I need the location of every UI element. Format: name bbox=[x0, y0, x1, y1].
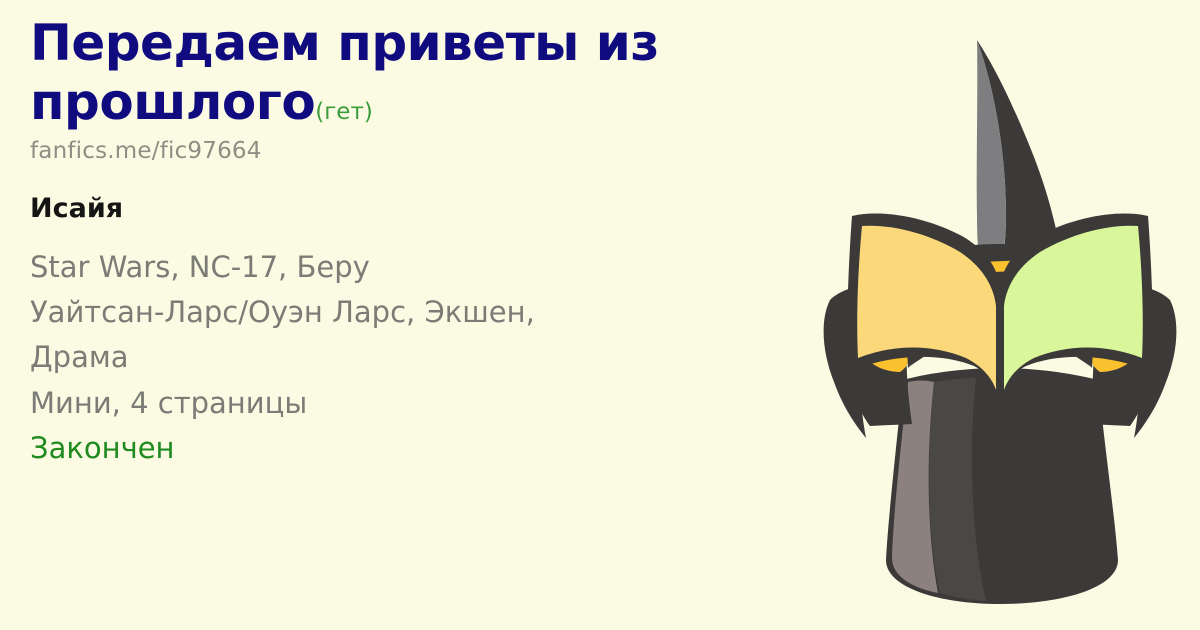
page-title: Передаем приветы из прошлого(гет) bbox=[30, 14, 800, 132]
fic-metadata: Star Wars, NC-17, Беру Уайтсан-Ларс/Оуэн… bbox=[30, 245, 800, 471]
status-badge: Закончен bbox=[30, 426, 800, 471]
wizard-illustration-svg bbox=[800, 0, 1200, 630]
title-category: (гет) bbox=[315, 99, 373, 125]
meta-line-fandom: Star Wars, NC-17, Беру bbox=[30, 245, 800, 290]
wizard-reading-book-illustration bbox=[800, 0, 1200, 630]
text-column: Передаем приветы из прошлого(гет) fanfic… bbox=[30, 14, 800, 471]
meta-line-genre: Драма bbox=[30, 335, 800, 380]
robe-group bbox=[886, 368, 1118, 604]
meta-line-pairing: Уайтсан-Ларс/Оуэн Ларс, Экшен, bbox=[30, 290, 800, 335]
book-spine bbox=[998, 290, 1002, 398]
meta-line-size: Мини, 4 страницы bbox=[30, 381, 800, 426]
source-url[interactable]: fanfics.me/fic97664 bbox=[30, 138, 800, 164]
author-name: Исайя bbox=[30, 193, 800, 224]
link-preview-card: Передаем приветы из прошлого(гет) fanfic… bbox=[0, 0, 1200, 630]
